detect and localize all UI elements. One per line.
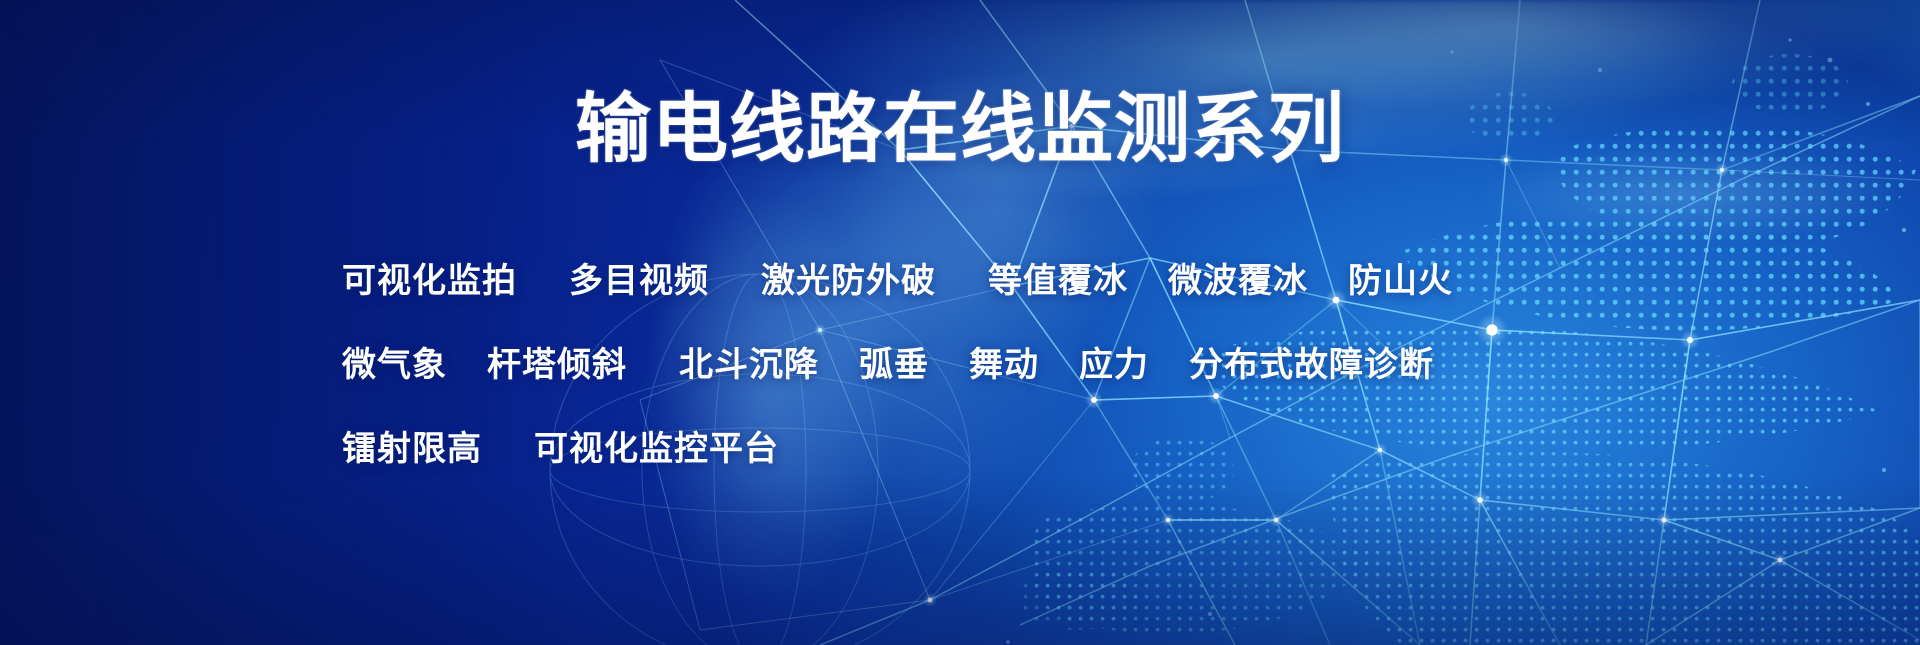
feature-item[interactable]: 杆塔倾斜: [487, 342, 627, 388]
feature-item[interactable]: 激光防外破: [761, 258, 936, 304]
feature-item[interactable]: 分布式故障诊断: [1189, 342, 1434, 388]
feature-item[interactable]: 防山火: [1348, 258, 1453, 304]
feature-row-2: 微气象杆塔倾斜北斗沉降弧垂舞动应力分布式故障诊断: [342, 336, 1602, 394]
feature-item[interactable]: 可视化监拍: [342, 258, 517, 304]
feature-item[interactable]: 多目视频: [569, 258, 709, 304]
feature-item[interactable]: 北斗沉降: [679, 342, 819, 388]
banner-content: 输电线路在线监测系列 可视化监拍多目视频激光防外破等值覆冰微波覆冰防山火 微气象…: [0, 0, 1920, 645]
feature-item[interactable]: 等值覆冰: [988, 258, 1128, 304]
feature-item[interactable]: 应力: [1079, 342, 1149, 388]
feature-item[interactable]: 微气象: [342, 342, 447, 388]
feature-item[interactable]: 镭射限高: [342, 426, 482, 472]
feature-item[interactable]: 微波覆冰: [1168, 258, 1308, 304]
feature-row-1: 可视化监拍多目视频激光防外破等值覆冰微波覆冰防山火: [342, 252, 1602, 310]
hero-banner: 输电线路在线监测系列 可视化监拍多目视频激光防外破等值覆冰微波覆冰防山火 微气象…: [0, 0, 1920, 645]
feature-list: 可视化监拍多目视频激光防外破等值覆冰微波覆冰防山火 微气象杆塔倾斜北斗沉降弧垂舞…: [342, 252, 1602, 478]
feature-item[interactable]: 可视化监控平台: [534, 426, 779, 472]
feature-row-3: 镭射限高可视化监控平台: [342, 420, 1602, 478]
page-title: 输电线路在线监测系列: [0, 88, 1920, 172]
feature-item[interactable]: 弧垂: [859, 342, 929, 388]
feature-item[interactable]: 舞动: [969, 342, 1039, 388]
